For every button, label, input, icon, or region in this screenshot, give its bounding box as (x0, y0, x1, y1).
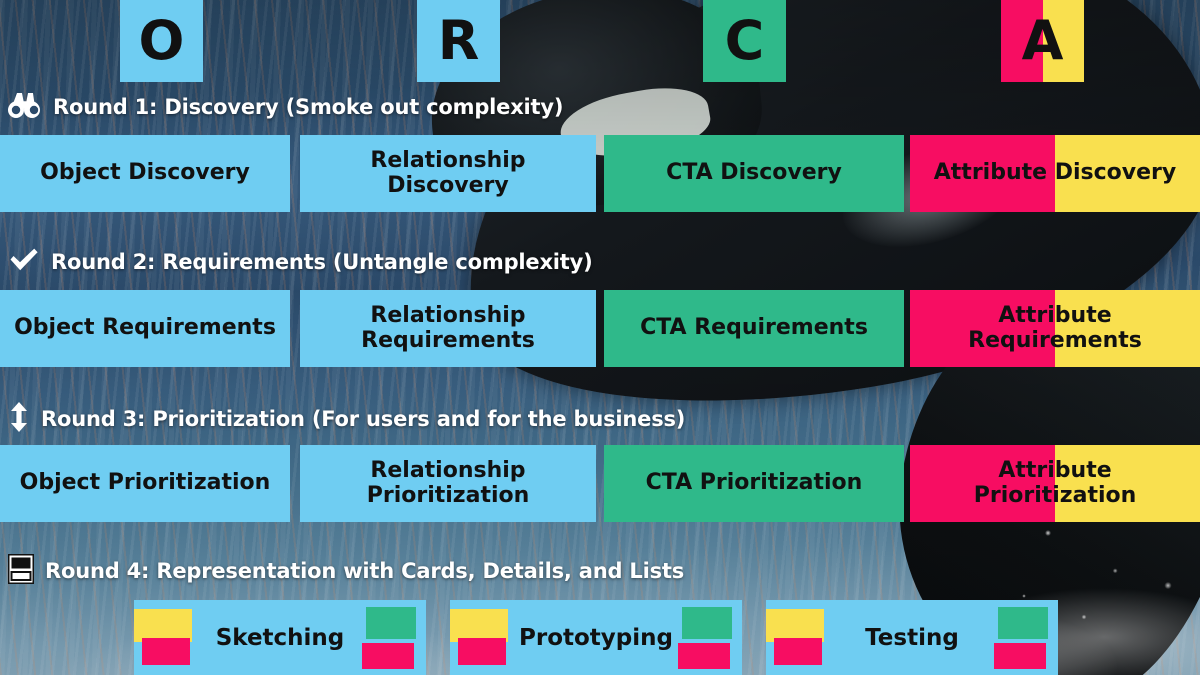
card-icon (8, 554, 34, 588)
acronym-letter-tile: C (703, 0, 786, 82)
acronym-letter-glyph: A (1022, 14, 1064, 68)
representation-chip[interactable]: Testing (766, 600, 1058, 675)
activity-bar-label: CTA Prioritization (604, 471, 904, 496)
swatch-green (366, 607, 416, 639)
round-bar-row: Object PrioritizationRelationship Priori… (0, 445, 1200, 522)
activity-bar-label: Object Discovery (0, 161, 290, 186)
acronym-letter-tile: R (417, 0, 500, 82)
representation-chip[interactable]: Sketching (134, 600, 426, 675)
representation-chip-label: Sketching (200, 625, 360, 651)
acronym-letter-glyph: O (139, 14, 185, 68)
slide-content: ORCA Round 1: Discovery (Smoke out compl… (0, 0, 1200, 675)
swatch-green (682, 607, 732, 639)
round-title: Round 4: Representation with Cards, Deta… (45, 559, 684, 583)
activity-bar-label: Relationship Discovery (300, 149, 596, 198)
round-header: Round 3: Prioritization (For users and f… (8, 404, 685, 434)
activity-bar[interactable]: CTA Requirements (604, 290, 904, 367)
activity-bar-label: Attribute Requirements (910, 304, 1200, 353)
swatch-pink (362, 643, 414, 669)
activity-bar-label: Object Requirements (0, 316, 290, 341)
activity-bar[interactable]: Object Discovery (0, 135, 290, 212)
activity-bar-label: CTA Requirements (604, 316, 904, 341)
round-title: Round 3: Prioritization (For users and f… (41, 407, 685, 431)
card-swatch-yellow-pink (134, 607, 200, 669)
activity-bar[interactable]: Relationship Discovery (300, 135, 596, 212)
activity-bar-label: CTA Discovery (604, 161, 904, 186)
round-title: Round 1: Discovery (Smoke out complexity… (53, 95, 563, 119)
binoculars-icon (8, 92, 42, 122)
activity-bar[interactable]: Relationship Prioritization (300, 445, 596, 522)
swatch-green (998, 607, 1048, 639)
acronym-letter-glyph: C (725, 14, 765, 68)
activity-bar[interactable]: Relationship Requirements (300, 290, 596, 367)
card-swatch-yellow-pink (766, 607, 832, 669)
representation-chip-label: Prototyping (516, 625, 676, 651)
activity-bar[interactable]: Object Prioritization (0, 445, 290, 522)
swatch-pink (142, 638, 190, 665)
representation-chip-label: Testing (832, 625, 992, 651)
card-swatch-yellow-pink (450, 607, 516, 669)
round-bar-row: Object DiscoveryRelationship DiscoveryCT… (0, 135, 1200, 212)
activity-bar-label: Relationship Prioritization (300, 459, 596, 508)
swatch-pink (774, 638, 822, 665)
check-icon (8, 247, 40, 277)
activity-bar-label: Object Prioritization (0, 471, 290, 496)
swatch-pink (994, 643, 1046, 669)
round-header: Round 4: Representation with Cards, Deta… (8, 556, 684, 586)
acronym-letter-glyph: R (438, 14, 480, 68)
activity-bar[interactable]: CTA Discovery (604, 135, 904, 212)
round-4-chip-row: SketchingPrototypingTesting (0, 600, 1200, 675)
activity-bar[interactable]: CTA Prioritization (604, 445, 904, 522)
activity-bar[interactable]: Attribute Prioritization (910, 445, 1200, 522)
card-swatch-green-pink (676, 607, 742, 669)
activity-bar-label: Attribute Discovery (910, 161, 1200, 186)
card-swatch-green-pink (992, 607, 1058, 669)
round-header: Round 2: Requirements (Untangle complexi… (8, 247, 593, 277)
round-header: Round 1: Discovery (Smoke out complexity… (8, 92, 563, 122)
round-title: Round 2: Requirements (Untangle complexi… (51, 250, 593, 274)
activity-bar-label: Attribute Prioritization (910, 459, 1200, 508)
swatch-pink (678, 643, 730, 669)
swatch-pink (458, 638, 506, 665)
round-bar-row: Object RequirementsRelationship Requirem… (0, 290, 1200, 367)
acronym-letter-tile: O (120, 0, 203, 82)
acronym-letter-tile: A (1001, 0, 1084, 82)
activity-bar[interactable]: Attribute Requirements (910, 290, 1200, 367)
activity-bar[interactable]: Attribute Discovery (910, 135, 1200, 212)
representation-chip[interactable]: Prototyping (450, 600, 742, 675)
card-swatch-green-pink (360, 607, 426, 669)
up-down-arrow-icon (8, 402, 30, 436)
activity-bar-label: Relationship Requirements (300, 304, 596, 353)
activity-bar[interactable]: Object Requirements (0, 290, 290, 367)
